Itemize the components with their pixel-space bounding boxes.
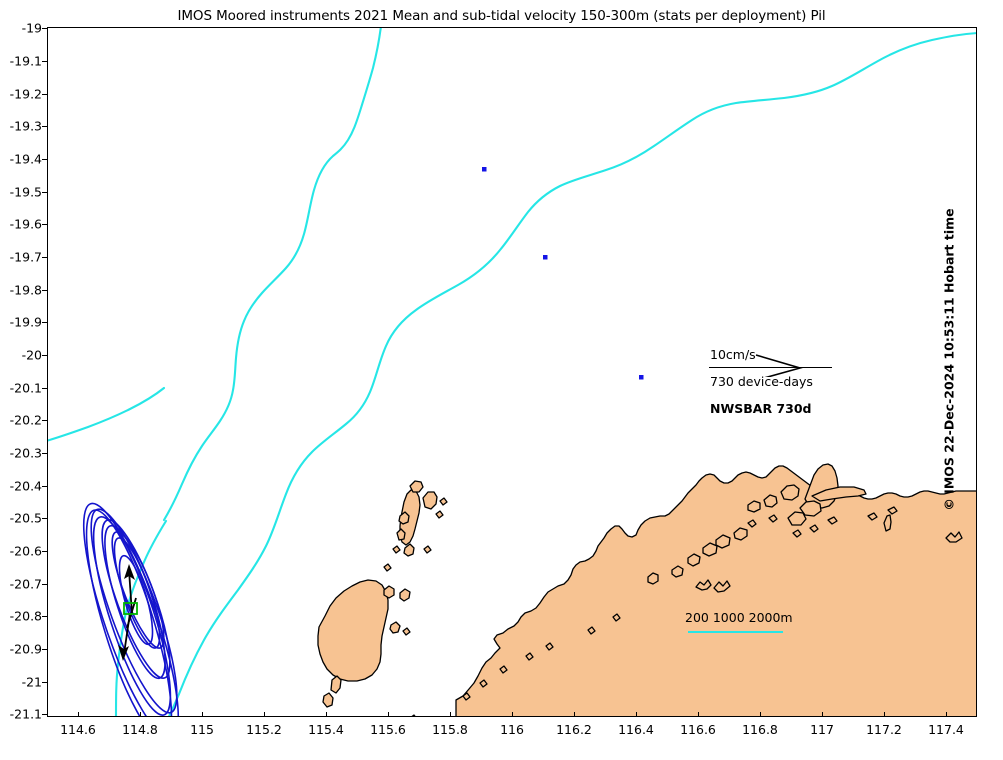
island-near-barrow-1: [390, 622, 400, 633]
y-tick-label: -19.1: [0, 54, 42, 69]
x-tick-mark: [512, 712, 513, 717]
x-tick-mark: [946, 712, 947, 717]
x-tick-mark: [78, 712, 79, 717]
y-tick-mark: [42, 94, 47, 95]
y-tick-mark: [42, 126, 47, 127]
x-tick-label: 115.6: [370, 722, 406, 737]
x-tick-mark: [202, 712, 203, 717]
depth-legend-line: [688, 631, 783, 633]
bathymetry-contour-fragment-left: [48, 388, 164, 441]
y-tick-mark: [42, 192, 47, 193]
x-tick-mark: [698, 712, 699, 717]
y-tick-label: -19.2: [0, 87, 42, 102]
y-tick-mark: [42, 388, 47, 389]
island-lowendal-1: [384, 586, 394, 598]
x-tick-label: 116: [500, 722, 524, 737]
y-tick-mark: [42, 584, 47, 585]
x-tick-mark: [884, 712, 885, 717]
y-tick-label: -19.9: [0, 315, 42, 330]
island-barrow-south-tail: [331, 676, 341, 693]
x-tick-mark: [450, 712, 451, 717]
x-tick-label: 116.8: [742, 722, 778, 737]
island-montebello-s1: [404, 544, 414, 556]
legend-site-label: NWSBAR 730d: [710, 401, 811, 416]
depth-contour-legend: 200 1000 2000m: [683, 610, 813, 638]
x-tick-label: 117.2: [866, 722, 902, 737]
copyright-credit: © IMOS 22-Dec-2024 10:53:11 Hobart time: [942, 200, 957, 520]
land-masses: [318, 464, 977, 717]
y-tick-label: -19.7: [0, 250, 42, 265]
island-montebello-tiny-3: [424, 546, 431, 553]
x-tick-label: 116.2: [556, 722, 592, 737]
y-tick-label: -19.3: [0, 119, 42, 134]
mooring-marker-2[interactable]: [543, 255, 548, 260]
mooring-marker-3[interactable]: [639, 375, 644, 380]
y-tick-label: -20.9: [0, 642, 42, 657]
y-tick-mark: [42, 355, 47, 356]
island-montebello-tiny-1: [440, 498, 447, 505]
y-tick-label: -20.3: [0, 446, 42, 461]
mainland-pilbara-coast: [456, 466, 977, 717]
x-tick-label: 117: [810, 722, 834, 737]
y-tick-label: -19.5: [0, 185, 42, 200]
mooring-marker-1[interactable]: [482, 167, 487, 172]
y-tick-mark: [42, 61, 47, 62]
x-tick-label: 115.8: [432, 722, 468, 737]
x-tick-label: 116.6: [680, 722, 716, 737]
page-title: IMOS Moored instruments 2021 Mean and su…: [0, 8, 1003, 24]
x-tick-label: 117.4: [928, 722, 964, 737]
island-montebello-east: [423, 492, 437, 509]
y-tick-label: -19.4: [0, 152, 42, 167]
velocity-scale-legend: 10cm/s 730 device-days NWSBAR 730d: [709, 345, 859, 425]
island-montebello-tiny-5: [384, 564, 391, 571]
x-tick-mark: [636, 712, 637, 717]
island-barrow-south-tip: [323, 693, 333, 707]
y-tick-label: -20.8: [0, 609, 42, 624]
x-tick-label: 114.8: [122, 722, 158, 737]
x-tick-mark: [574, 712, 575, 717]
x-tick-label: 115: [190, 722, 214, 737]
island-montebello-tiny-4: [393, 546, 400, 553]
x-tick-mark: [388, 712, 389, 717]
island-montebello-tiny-2: [436, 511, 443, 518]
island-lowendal-2: [400, 589, 410, 601]
y-tick-mark: [42, 616, 47, 617]
x-tick-mark: [326, 712, 327, 717]
y-tick-label: -20.6: [0, 544, 42, 559]
y-tick-mark: [42, 649, 47, 650]
y-tick-mark: [42, 28, 47, 29]
island-montebello-n1: [410, 481, 423, 492]
x-tick-mark: [760, 712, 761, 717]
y-tick-label: -20.2: [0, 413, 42, 428]
y-tick-mark: [42, 486, 47, 487]
legend-device-days-label: 730 device-days: [710, 374, 813, 389]
y-tick-mark: [42, 159, 47, 160]
y-tick-label: -19: [0, 21, 42, 36]
y-tick-label: -20.5: [0, 511, 42, 526]
x-tick-label: 115.4: [308, 722, 344, 737]
island-montebello-n2: [399, 512, 409, 524]
x-tick-mark: [140, 712, 141, 717]
y-tick-mark: [42, 257, 47, 258]
y-tick-mark: [42, 714, 47, 715]
x-tick-label: 116.4: [618, 722, 654, 737]
y-tick-mark: [42, 518, 47, 519]
y-tick-label: -19.6: [0, 217, 42, 232]
map-figure: IMOS Moored instruments 2021 Mean and su…: [0, 0, 1003, 760]
island-barrow: [318, 580, 388, 681]
mooring-markers[interactable]: [482, 167, 644, 380]
y-tick-label: -19.8: [0, 283, 42, 298]
x-tick-label: 114.6: [60, 722, 96, 737]
legend-speed-label: 10cm/s: [710, 347, 756, 362]
bathymetry-contour-200m: [164, 28, 381, 520]
x-tick-label: 115.2: [246, 722, 282, 737]
y-tick-label: -21: [0, 675, 42, 690]
y-tick-label: -20: [0, 348, 42, 363]
island-misc-8: [410, 715, 417, 717]
y-tick-label: -20.4: [0, 479, 42, 494]
y-tick-mark: [42, 322, 47, 323]
y-tick-mark: [42, 682, 47, 683]
y-tick-label: -20.1: [0, 381, 42, 396]
depth-legend-label: 200 1000 2000m: [685, 610, 793, 625]
y-tick-mark: [42, 453, 47, 454]
y-tick-mark: [42, 551, 47, 552]
island-near-barrow-2: [403, 628, 410, 635]
y-tick-label: -20.7: [0, 577, 42, 592]
x-tick-mark: [264, 712, 265, 717]
y-tick-mark: [42, 420, 47, 421]
y-tick-mark: [42, 290, 47, 291]
y-tick-mark: [42, 224, 47, 225]
x-tick-mark: [822, 712, 823, 717]
y-tick-label: -21.1: [0, 707, 42, 722]
